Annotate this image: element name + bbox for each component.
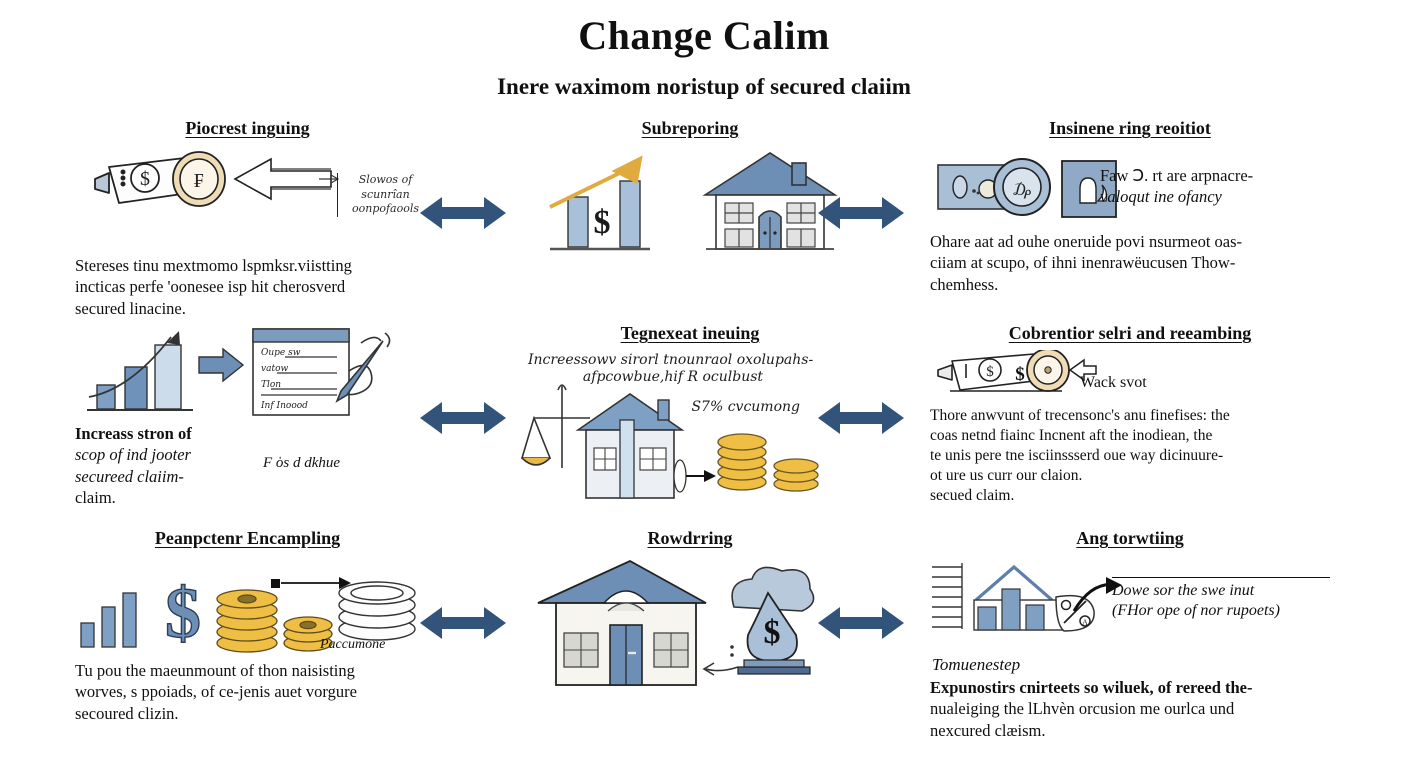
panel-note: Wack svot	[1080, 374, 1147, 392]
dollar-sign-icon: $	[1015, 364, 1025, 385]
coin-stack-icon	[718, 434, 818, 491]
svg-text:A: A	[1082, 618, 1088, 627]
panel-title: Rowdrring	[520, 528, 860, 549]
illustration-growth-form: Oupe sw vatow Tlon Inf Inoood	[75, 323, 420, 419]
double-arrow-r1-a[interactable]	[420, 193, 506, 233]
coin-circle-icon: ₯	[994, 159, 1050, 215]
panel-title: Insinene ring reoitiot	[930, 118, 1330, 139]
gold-coin-icon: ₣	[173, 152, 225, 206]
body-line: Expunostirs cnirteets so wiluek, of rere…	[930, 677, 1330, 698]
left-arrow-icon	[704, 663, 738, 675]
body-line: ot ure us curr our claion.	[930, 466, 1330, 486]
note-line: Increessowv sirorl tnounraol oxolupahs-	[528, 352, 818, 370]
illustration-chart-house-percent: A Dowe sor the swe inut (FHor ope of nor…	[930, 555, 1330, 671]
note-line: (FHor ope of nor rupoets)	[1112, 601, 1330, 621]
arrow-right-icon	[271, 577, 351, 589]
house-icon	[705, 153, 835, 249]
panel-body: Thore anwvunt of trecensonc's anu finefi…	[930, 406, 1330, 507]
dollar-sign-icon: $	[165, 573, 201, 653]
illustration-house-moneydrop: $	[520, 555, 860, 695]
svg-text:₯: ₯	[1013, 179, 1031, 199]
panel-body: Ohare aat ad ouhe oneruide povi nsurmeot…	[930, 231, 1330, 295]
coin-stack-icon	[217, 590, 277, 652]
panel-piocrest-inguing: Piocrest inguing $	[75, 118, 420, 323]
bar-chart-house-icon	[932, 563, 1074, 630]
body-line: Ohare aat ad ouhe oneruide povi nsurmeot…	[930, 231, 1330, 252]
double-arrow-r3-b[interactable]	[818, 603, 904, 643]
illustration-chart-house: $	[520, 145, 860, 255]
panel-title: Cobrentior selri and reeambing	[930, 323, 1330, 344]
body-line: secued claim.	[930, 486, 1330, 506]
svg-text:₣: ₣	[194, 170, 204, 192]
panel-title: Piocrest inguing	[75, 118, 420, 139]
panel-rowdrring: Rowdrring	[520, 528, 860, 733]
panel-ang-torwtiing: Ang torwtiing	[930, 528, 1330, 733]
coin-arrow-icon	[674, 460, 716, 492]
double-arrow-r2-a[interactable]	[420, 398, 506, 438]
panel-insinene-ring-reoitiot: Insinene ring reoitiot ₯	[930, 118, 1330, 323]
svg-text:$: $	[140, 168, 150, 190]
panel-title: Subreporing	[520, 118, 860, 139]
svg-text:$: $	[764, 614, 781, 651]
annotation-line-1: Slowos of	[343, 173, 428, 188]
body-line: Thore anwvunt of trecensonc's anu finefi…	[930, 406, 1330, 426]
panel-title: Peanpctenr Encampling	[75, 528, 420, 549]
double-arrow-r1-b[interactable]	[818, 193, 904, 233]
panel-body: Tu pou the maeunmount of thon naisisting…	[75, 660, 420, 724]
panel-row-2: Oupe sw vatow Tlon Inf Inoood	[0, 323, 1408, 528]
illustration-coins-growth: $	[75, 555, 420, 660]
svg-text:$: $	[986, 364, 994, 380]
left-arrow-outline-icon	[235, 159, 331, 199]
illustration-banknote-coin-doc: ₯ Faw ꓛ. rt are arpnacre- valoqut ine of…	[930, 145, 1330, 231]
panel-title: Ang torwtiing	[930, 528, 1330, 549]
body-line-bold: Expunostirs cnirteets so wiluek, of rere…	[930, 678, 1252, 697]
panel-note: Dowe sor the swe inut (FHor ope of nor r…	[1112, 577, 1330, 621]
panel-row-3: Peanpctenr Encampling $	[0, 528, 1408, 733]
body-line: claim.	[75, 487, 420, 508]
panel-caption: Paccumone	[320, 637, 385, 653]
house-icon	[578, 394, 682, 498]
note-line: valoqut ine ofancy	[1100, 186, 1330, 207]
panel-tegnexeat-ineuing: Tegnexeat ineuing Increessowv sirorl tno…	[520, 323, 860, 528]
gold-coin-icon	[1027, 350, 1069, 391]
annotation-line-2: scunrîan	[343, 188, 428, 203]
house-icon	[538, 561, 706, 685]
percent-badge-icon: A	[1056, 595, 1094, 630]
svg-text:Tlon: Tlon	[261, 380, 281, 390]
body-line: nexcured clæism.	[930, 720, 1330, 741]
panel-row-1: Piocrest inguing $	[0, 118, 1408, 323]
body-line: scop of ind jooter	[75, 444, 420, 465]
body-line: Stereses tinu mextmomo lspmksr.viistting	[75, 255, 420, 276]
body-line: Increass stron of	[75, 423, 420, 444]
body-line: secureed claiim-	[75, 466, 420, 487]
page-title: Change Calim	[0, 12, 1408, 59]
form-document-icon: Oupe sw vatow Tlon Inf Inoood	[253, 329, 349, 415]
svg-text:vatow: vatow	[261, 364, 288, 374]
bar-chart-icon	[81, 593, 136, 647]
balance-scale-icon	[522, 385, 590, 468]
double-arrow-r2-b[interactable]	[818, 398, 904, 438]
annotation-line-3: oonpofaools	[343, 202, 428, 217]
page-subtitle: Inere waximom noristup of secured claiim	[0, 74, 1408, 100]
dollar-sign-icon: $	[594, 204, 611, 241]
poster-canvas: Change Calim Inere waximom noristup of s…	[0, 0, 1408, 768]
body-line: Tu pou the maeunmount of thon naisisting	[75, 660, 420, 681]
panel-caption: F o̍s d dkhue	[263, 455, 340, 472]
illustration-scale-house-coins: Increessowv sirorl tnounraol oxolupahs- …	[520, 350, 860, 500]
body-line: chemhess.	[930, 274, 1330, 295]
body-line: te unis pere tne isciinssserd oue way di…	[930, 446, 1330, 466]
panel-grid: Piocrest inguing $	[0, 118, 1408, 758]
illustration-money-coin: $ $ Wack svot	[930, 350, 1330, 406]
note-line: Dowe sor the swe inut	[1112, 581, 1330, 601]
note-line: Faw ꓛ. rt are arpnacre-	[1100, 165, 1330, 186]
panel-caption: Tomuenestep	[932, 655, 1020, 675]
annotation-box: Slowos of scunrîan oonpofaools	[337, 173, 428, 218]
body-line: coas netnd fiainc Incnent aft the inodie…	[930, 426, 1330, 446]
panel-cobrentior-selri: Cobrentior selri and reeambing $ $	[930, 323, 1330, 528]
body-line: secoured clizin.	[75, 703, 420, 724]
panel-title: Tegnexeat ineuing	[520, 323, 860, 344]
blue-block-arrow-icon	[199, 349, 243, 381]
double-arrow-r3-a[interactable]	[420, 603, 506, 643]
panel-increase-scope: Oupe sw vatow Tlon Inf Inoood	[75, 323, 420, 528]
panel-peanpctenr-encampling: Peanpctenr Encampling $	[75, 528, 420, 733]
illustration-money-note: $ ₣	[75, 145, 420, 255]
svg-text:Oupe sw: Oupe sw	[261, 348, 301, 358]
panel-subreporing: Subreporing $	[520, 118, 860, 323]
body-line: ciiam at scupo, of ihni inenrawëucusen T…	[930, 252, 1330, 273]
svg-text:Inf Inoood: Inf Inoood	[260, 401, 308, 411]
body-line: secured linacine.	[75, 298, 420, 319]
body-line: nualeiging the lLhvèn orcusion me ourlca…	[930, 698, 1330, 719]
growth-chart-icon	[87, 331, 193, 410]
panel-note: Faw ꓛ. rt are arpnacre- valoqut ine ofan…	[1100, 165, 1330, 208]
body-line: worves, s ppoiads, of ce-jenis auet vorg…	[75, 681, 420, 702]
panel-body: Stereses tinu mextmomo lspmksr.viistting…	[75, 255, 420, 319]
money-bag-drop-icon: $	[730, 567, 813, 674]
body-line: incticas perfe 'oonesee isp hit cherosve…	[75, 276, 420, 297]
panel-body: Expunostirs cnirteets so wiluek, of rere…	[930, 677, 1330, 741]
panel-body: Increass stron of scop of ind jooter sec…	[75, 423, 420, 509]
silver-coin-stack-icon	[339, 582, 415, 640]
